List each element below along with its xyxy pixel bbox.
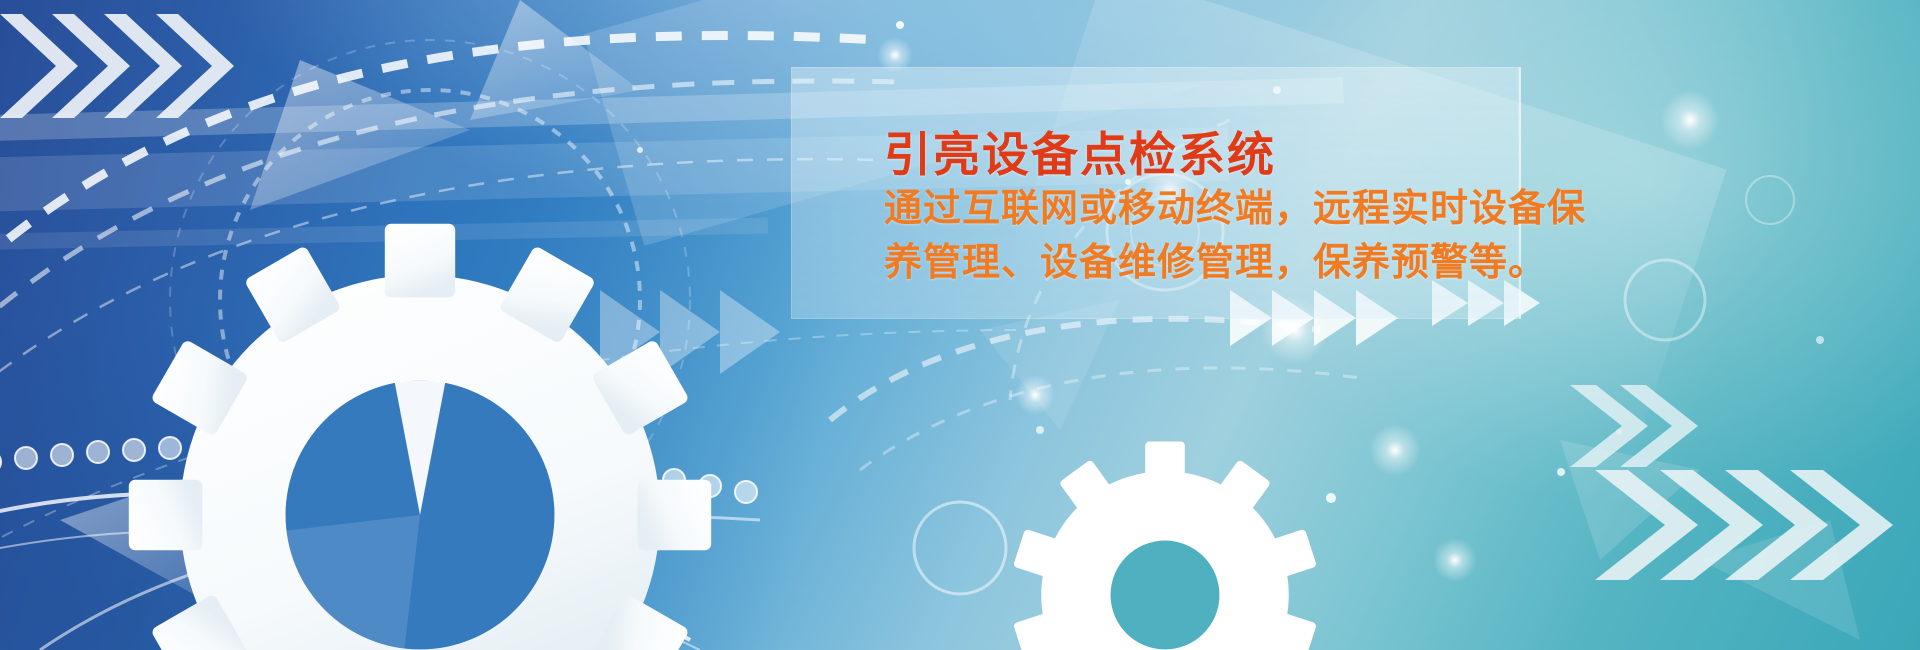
- page-title: 引亮设备点检系统: [884, 131, 1604, 182]
- chevron-right-icon-group-bottom-right-small: [1570, 385, 1698, 467]
- equipment-inspection-banner: 引亮设备点检系统 通过互联网或移动终端，远程实时设备保 养管理、设备维修管理，保…: [0, 0, 1920, 650]
- page-subtitle: 通过互联网或移动终端，远程实时设备保 养管理、设备维修管理，保养预警等。: [884, 182, 1624, 290]
- subtitle-line-1: 通过互联网或移动终端，远程实时设备保: [884, 182, 1624, 236]
- gear-icon-large: [100, 195, 740, 650]
- subtitle-line-2: 养管理、设备维修管理，保养预警等。: [884, 236, 1624, 290]
- gear-icon-small: [1000, 430, 1330, 650]
- chevron-right-icon-group-top-left: [0, 14, 234, 118]
